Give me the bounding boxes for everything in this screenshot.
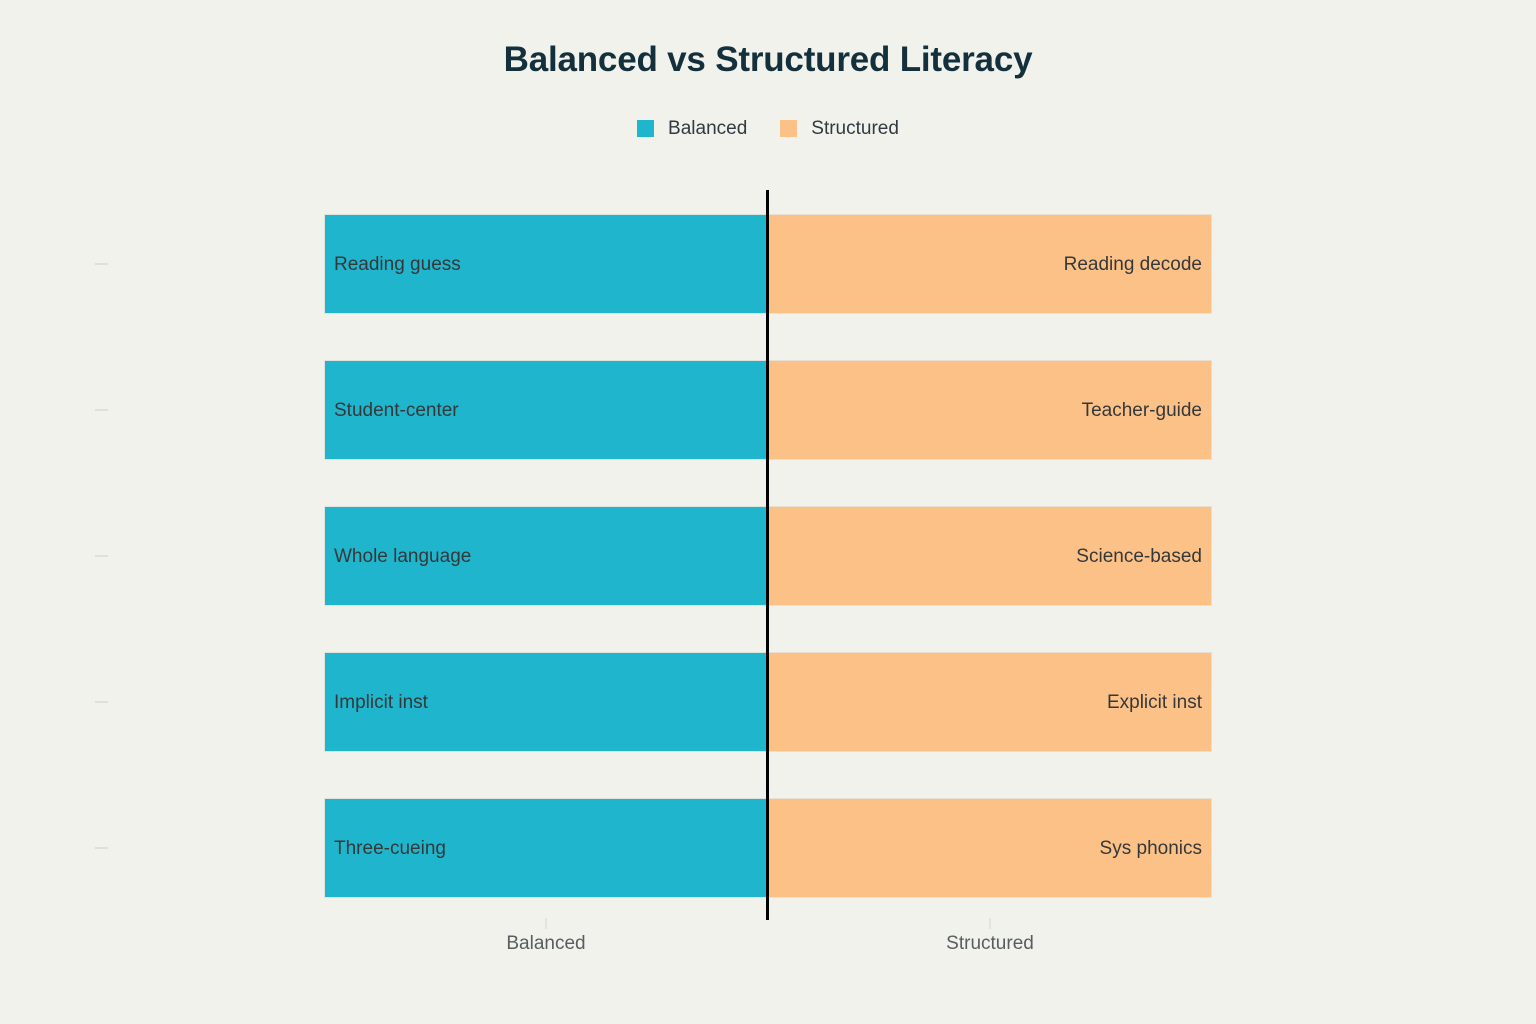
y-axis-tick [95, 409, 108, 411]
bar-segment-balanced[interactable]: Reading guess [324, 214, 767, 314]
bar-segment-structured[interactable]: Explicit inst [767, 652, 1212, 752]
bar-label-structured: Teacher-guide [1082, 401, 1202, 420]
bar-segment-balanced[interactable]: Whole language [324, 506, 767, 606]
legend-item-balanced[interactable]: Balanced [637, 119, 747, 138]
bar-segment-structured[interactable]: Reading decode [767, 214, 1212, 314]
chart-canvas: Balanced vs Structured Literacy Balanced… [0, 0, 1536, 1024]
center-divider-line [766, 190, 769, 920]
bar-label-balanced: Student-center [334, 401, 459, 420]
legend-swatch-icon-balanced [637, 120, 654, 137]
chart-title: Balanced vs Structured Literacy [0, 40, 1536, 80]
bar-label-structured: Reading decode [1064, 255, 1202, 274]
bar-label-structured: Explicit inst [1107, 693, 1202, 712]
legend-item-structured[interactable]: Structured [780, 119, 899, 138]
bar-label-structured: Science-based [1076, 547, 1202, 566]
bar-label-structured: Sys phonics [1100, 839, 1202, 858]
bar-segment-structured[interactable]: Science-based [767, 506, 1212, 606]
chart-legend: Balanced Structured [0, 119, 1536, 138]
bar-label-balanced: Implicit inst [334, 693, 428, 712]
bar-segment-balanced[interactable]: Three-cueing [324, 798, 767, 898]
x-axis-label-balanced: Balanced [506, 934, 585, 953]
bar-segment-balanced[interactable]: Student-center [324, 360, 767, 460]
x-axis-label-structured: Structured [946, 934, 1034, 953]
bar-label-balanced: Whole language [334, 547, 471, 566]
legend-label-structured: Structured [811, 119, 899, 138]
y-axis-tick [95, 555, 108, 557]
x-axis-tick [545, 918, 547, 929]
y-axis-tick [95, 263, 108, 265]
x-axis-tick [989, 918, 991, 929]
bar-label-balanced: Three-cueing [334, 839, 446, 858]
y-axis-tick [95, 701, 108, 703]
bar-label-balanced: Reading guess [334, 255, 461, 274]
bar-segment-structured[interactable]: Teacher-guide [767, 360, 1212, 460]
bar-segment-structured[interactable]: Sys phonics [767, 798, 1212, 898]
y-axis-tick [95, 847, 108, 849]
bar-segment-balanced[interactable]: Implicit inst [324, 652, 767, 752]
legend-swatch-icon-structured [780, 120, 797, 137]
legend-label-balanced: Balanced [668, 119, 747, 138]
